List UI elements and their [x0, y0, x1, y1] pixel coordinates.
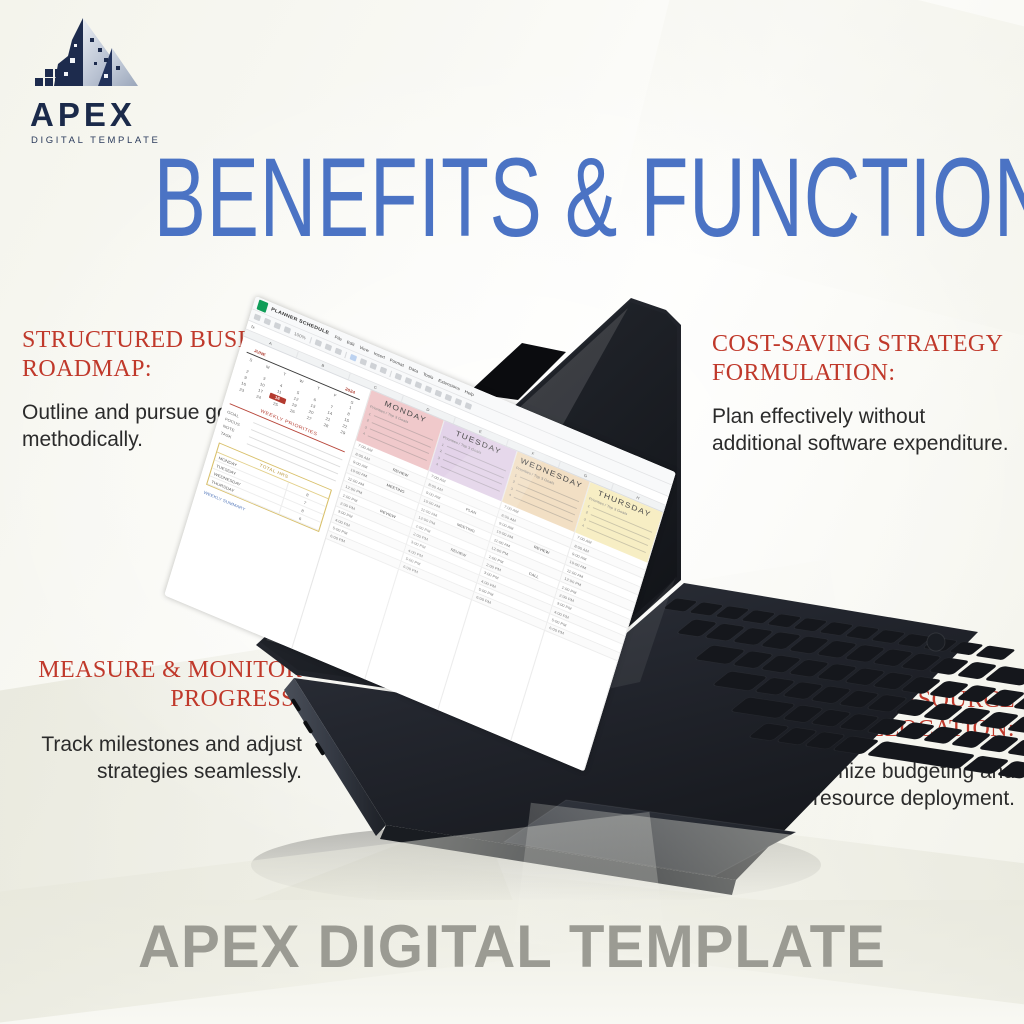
fill-color-icon[interactable] [394, 373, 402, 381]
day-priority-index: 4 [362, 432, 365, 436]
insert-link-icon[interactable] [444, 394, 452, 402]
day-priority-index: 3 [437, 456, 440, 460]
menu-item-view[interactable]: View [359, 344, 370, 352]
day-priority-index: 4 [435, 462, 438, 466]
toolbar-divider [389, 370, 392, 377]
strikethrough-icon[interactable] [369, 362, 377, 370]
print-icon[interactable] [274, 322, 282, 330]
day-priority-index: 2 [585, 510, 588, 514]
google-sheets-icon [257, 299, 269, 312]
day-priority-index: 2 [439, 449, 442, 453]
toolbar-divider [344, 351, 347, 358]
day-priority-index: 1 [368, 412, 371, 416]
day-priority-index: 3 [364, 425, 367, 429]
day-priority-index: 4 [581, 524, 584, 528]
footer-banner: APEX DIGITAL TEMPLATE [0, 900, 1024, 1024]
menu-item-help[interactable]: Help [464, 389, 474, 397]
poster-canvas: APEX DIGITAL TEMPLATE BENEFITS & FUNCTIO… [0, 0, 1024, 1024]
redo-icon[interactable] [264, 318, 272, 326]
brand-name: APEX [30, 98, 190, 131]
toolbar-divider [309, 336, 312, 343]
apex-mountain-logo-icon [28, 14, 138, 94]
italic-icon[interactable] [359, 358, 367, 366]
decimal-icon[interactable] [334, 347, 342, 355]
merge-cells-icon[interactable] [414, 381, 422, 389]
fx-icon: fx [251, 324, 256, 330]
insert-chart-icon[interactable] [454, 398, 462, 406]
menu-item-insert[interactable]: Insert [373, 350, 385, 359]
day-priority-index: 3 [510, 486, 513, 490]
menu-item-file[interactable]: File [334, 334, 342, 341]
menu-item-format[interactable]: Format [389, 357, 404, 367]
day-priority-index: 3 [583, 517, 586, 521]
bold-icon[interactable] [349, 354, 357, 362]
footer-brand-text: APEX DIGITAL TEMPLATE [15, 912, 1008, 981]
filter-icon[interactable] [464, 402, 472, 410]
day-priority-index: 1 [587, 504, 590, 508]
paint-format-icon[interactable] [284, 326, 292, 334]
menu-item-tools[interactable]: Tools [423, 371, 435, 380]
text-color-icon[interactable] [379, 366, 387, 374]
borders-icon[interactable] [404, 377, 412, 385]
align-icon[interactable] [424, 385, 432, 393]
day-priority-index: 2 [366, 418, 369, 422]
percent-icon[interactable] [324, 343, 332, 351]
menu-item-edit[interactable]: Edit [346, 339, 355, 347]
day-priority-index: 1 [441, 442, 444, 446]
menu-item-data[interactable]: Data [408, 365, 419, 373]
brand-logo: APEX DIGITAL TEMPLATE [20, 14, 190, 146]
page-title: BENEFITS & FUNCTIONS [154, 142, 871, 254]
zoom-level[interactable]: 100% [294, 331, 307, 340]
undo-icon[interactable] [254, 314, 262, 322]
day-priority-index: 2 [512, 480, 515, 484]
touch-id-icon[interactable] [927, 633, 945, 651]
wrap-text-icon[interactable] [434, 389, 442, 397]
day-priority-index: 4 [508, 493, 511, 497]
currency-icon[interactable] [314, 339, 322, 347]
day-priority-index: 1 [514, 473, 517, 477]
